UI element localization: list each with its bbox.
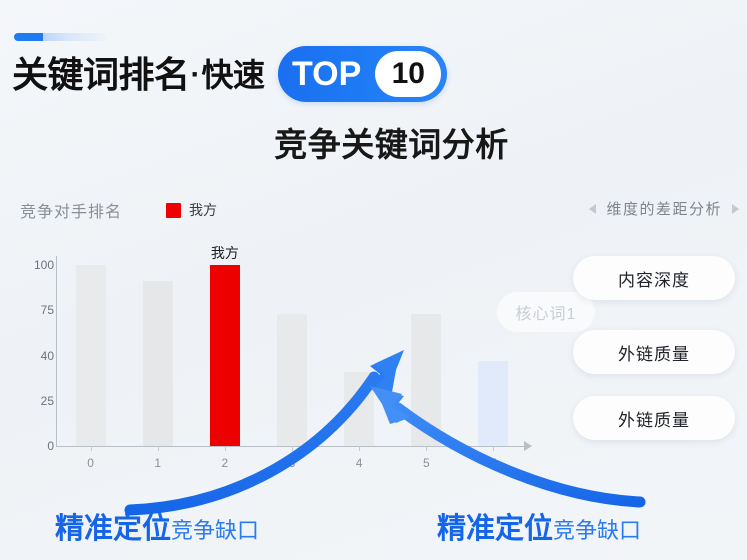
caption-left-secondary: 竞争缺口 [171,513,259,545]
dimension-card-label-1: 外链质量 [618,340,690,365]
x-axis-label-5: 5 [411,456,441,470]
caption-right-secondary: 竞争缺口 [553,513,641,545]
dimension-card-label-2: 外链质量 [618,406,690,431]
bar-competitor-0[interactable] [76,265,106,446]
y-axis-tick-2: 40 [20,349,54,363]
x-axis-tick-5 [426,446,427,451]
x-axis-tick-1 [158,446,159,451]
right-panel-title: 维度的差距分析 [589,198,739,219]
top-rank-badge: TOP 10 [278,46,447,102]
x-axis-tick-4 [359,446,360,451]
ghost-keyword-label: 核心词1 [516,300,577,324]
x-axis-tick-3 [292,446,293,451]
badge-number-value: 10 [392,59,425,89]
x-axis-label-0: 0 [76,456,106,470]
caption-right: 精准定位 竞争缺口 [437,505,641,547]
triangle-right-icon [732,204,739,214]
badge-top-label: TOP [292,57,361,91]
y-axis-tick-4: 0 [20,439,54,453]
ghost-keyword-pill: 核心词1 [497,292,595,332]
bar-competitor-4[interactable] [344,372,374,446]
dimension-card-label-0: 内容深度 [618,266,690,291]
legend-swatch-icon [166,203,181,218]
x-axis-line [56,446,526,447]
decor-bar-filled [14,33,43,41]
bar-chart: 1007540250 012我方3455 [0,250,560,480]
chart-section-title: 竞争对手排名 [20,198,122,222]
dimension-card-0[interactable]: 内容深度 [573,256,735,300]
bar-competitor-1[interactable] [143,281,173,446]
x-axis-label-1: 1 [143,456,173,470]
caption-left: 精准定位 竞争缺口 [55,505,259,547]
x-axis-label-4: 4 [344,456,374,470]
page-header: 关键词排名 · 快速 [12,48,265,102]
bar-ours[interactable] [210,265,240,446]
bar-ours-caption: 我方 [195,243,255,263]
x-axis-tick-2 [225,446,226,451]
x-axis-label-3: 3 [277,456,307,470]
x-axis-tick-0 [91,446,92,451]
dimension-card-1[interactable]: 外链质量 [573,330,735,374]
right-panel-title-text: 维度的差距分析 [606,198,722,219]
bar-competitor-3[interactable] [277,314,307,446]
header-title-main: 关键词排名 [12,57,190,93]
decor-bar-track [43,33,106,41]
badge-number-pill: 10 [375,51,441,97]
decor-progress-bar [14,33,106,41]
x-axis-label-6: 5 [478,456,508,470]
bar-opportunity[interactable] [478,361,508,446]
y-axis-tick-1: 75 [20,303,54,317]
caption-left-primary: 精准定位 [55,505,171,547]
page-subtitle: 竞争关键词分析 [0,118,747,166]
y-axis-labels: 1007540250 [12,250,54,450]
header-title-separator: · [191,58,201,92]
legend-item-ours[interactable]: 我方 [166,200,217,220]
legend-item-label: 我方 [189,200,217,220]
caption-right-primary: 精准定位 [437,505,553,547]
chart-legend: 竞争对手排名 我方 [20,198,217,222]
y-axis-tick-3: 25 [20,394,54,408]
chart-plot-area [57,256,527,446]
header-title-second: 快速 [202,59,265,91]
x-axis-tick-6 [493,446,494,451]
y-axis-tick-0: 100 [20,258,54,272]
page-subtitle-text: 竞争关键词分析 [274,126,509,163]
x-axis-label-2: 2 [210,456,240,470]
triangle-left-icon [589,204,596,214]
bar-competitor-5[interactable] [411,314,441,446]
dimension-card-2[interactable]: 外链质量 [573,396,735,440]
